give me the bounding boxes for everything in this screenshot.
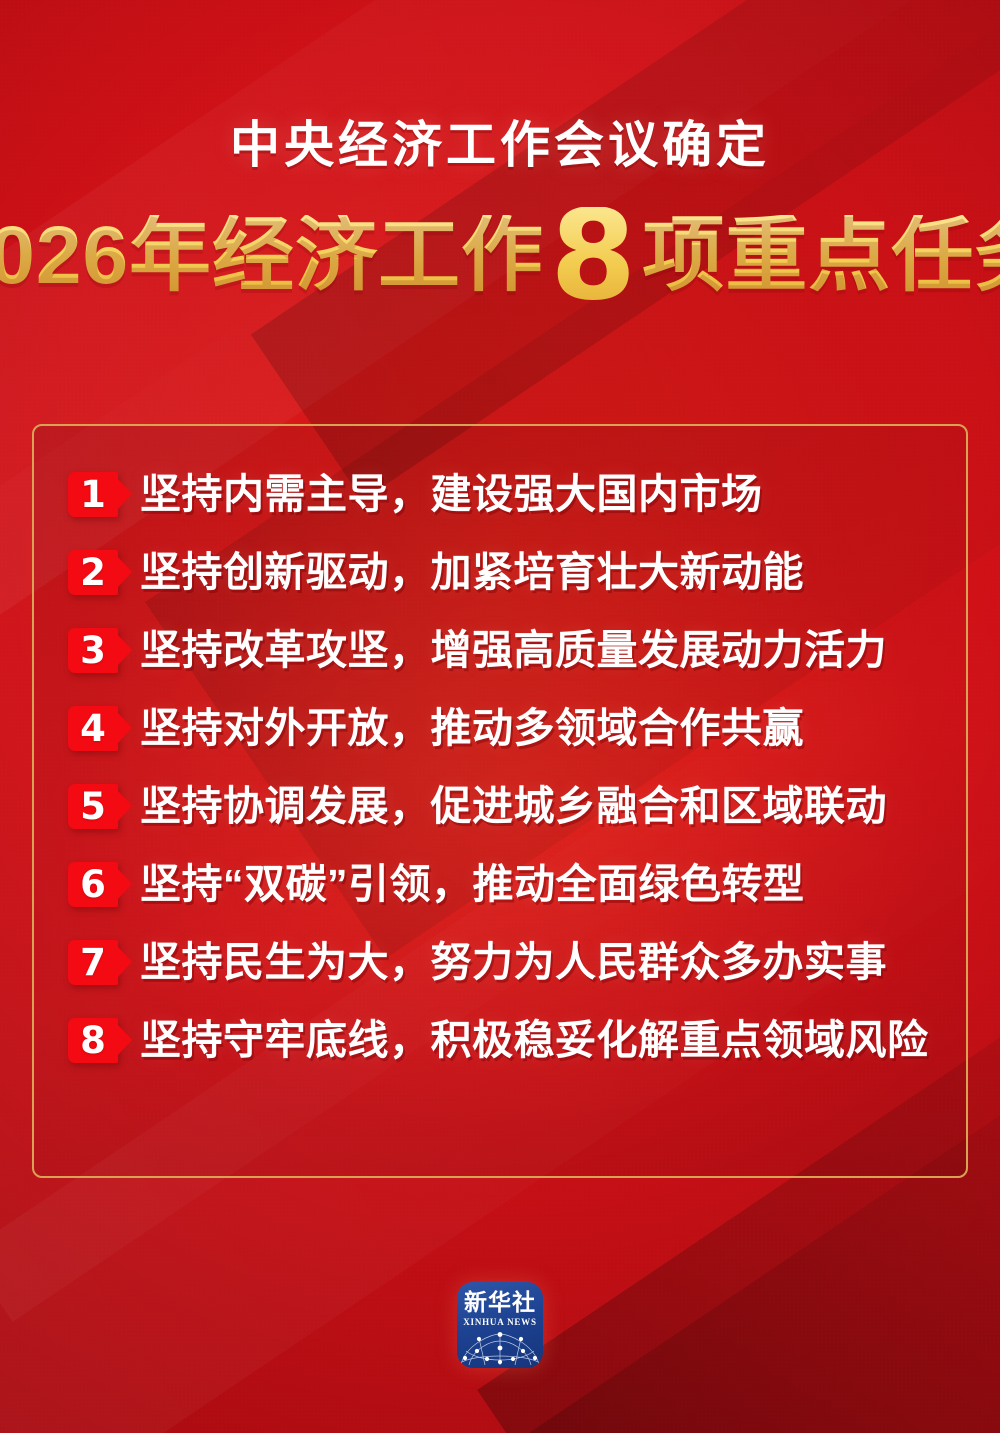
list-item[interactable]: 2 坚持创新驱动，加紧培育壮大新动能 <box>68 550 946 595</box>
network-globe-icon <box>457 1332 543 1368</box>
list-item[interactable]: 4 坚持对外开放，推动多领域合作共赢 <box>68 706 946 751</box>
page-title-number: 8 <box>544 207 642 306</box>
xinhua-news-logo-icon: 新华社 XINHUA NEWS <box>457 1282 543 1368</box>
page-kicker: 中央经济工作会议确定 <box>0 118 1000 172</box>
task-number: 7 <box>80 944 106 981</box>
publisher-logo[interactable]: 新华社 XINHUA NEWS <box>457 1282 543 1368</box>
page-title-prefix: 2026年经济工作 <box>0 215 544 297</box>
task-number-badge: 2 <box>68 550 118 595</box>
task-text: 坚持协调发展，促进城乡融合和区域联动 <box>140 786 887 827</box>
task-list-frame: 1 坚持内需主导，建设强大国内市场 2 坚持创新驱动，加紧培育壮大新动能 3 坚… <box>32 424 968 1178</box>
task-text: 坚持守牢底线，积极稳妥化解重点领域风险 <box>140 1020 929 1061</box>
task-list: 1 坚持内需主导，建设强大国内市场 2 坚持创新驱动，加紧培育壮大新动能 3 坚… <box>34 472 966 1063</box>
task-number: 3 <box>80 632 106 669</box>
poster-header: 中央经济工作会议确定 2026年经济工作 8 项重点任务 <box>0 118 1000 297</box>
poster-root: 中央经济工作会议确定 2026年经济工作 8 项重点任务 1 坚持内需主导，建设… <box>0 0 1000 1433</box>
list-item[interactable]: 8 坚持守牢底线，积极稳妥化解重点领域风险 <box>68 1018 946 1063</box>
task-text: 坚持对外开放，推动多领域合作共赢 <box>140 708 804 749</box>
list-item[interactable]: 6 坚持“双碳”引领，推动全面绿色转型 <box>68 862 946 907</box>
task-number: 2 <box>80 554 106 591</box>
page-title: 2026年经济工作 8 项重点任务 <box>0 198 1000 297</box>
task-number: 4 <box>80 710 106 747</box>
page-title-suffix: 项重点任务 <box>642 215 1000 297</box>
task-text: 坚持“双碳”引领，推动全面绿色转型 <box>140 864 805 905</box>
task-number-badge: 1 <box>68 472 118 517</box>
task-number-badge: 4 <box>68 706 118 751</box>
task-number: 6 <box>80 866 106 903</box>
logo-name-en: XINHUA NEWS <box>463 1318 537 1327</box>
task-text: 坚持内需主导，建设强大国内市场 <box>140 474 763 515</box>
task-number: 8 <box>80 1022 106 1059</box>
task-text: 坚持改革攻坚，增强高质量发展动力活力 <box>140 630 887 671</box>
task-text: 坚持创新驱动，加紧培育壮大新动能 <box>140 552 804 593</box>
task-number-badge: 8 <box>68 1018 118 1063</box>
task-number-badge: 7 <box>68 940 118 985</box>
task-number-badge: 3 <box>68 628 118 673</box>
task-number: 5 <box>80 788 106 825</box>
list-item[interactable]: 1 坚持内需主导，建设强大国内市场 <box>68 472 946 517</box>
task-number-badge: 5 <box>68 784 118 829</box>
task-text: 坚持民生为大，努力为人民群众多办实事 <box>140 942 887 983</box>
list-item[interactable]: 7 坚持民生为大，努力为人民群众多办实事 <box>68 940 946 985</box>
task-number: 1 <box>80 476 106 513</box>
logo-name-cn: 新华社 <box>464 1291 536 1314</box>
list-item[interactable]: 5 坚持协调发展，促进城乡融合和区域联动 <box>68 784 946 829</box>
list-item[interactable]: 3 坚持改革攻坚，增强高质量发展动力活力 <box>68 628 946 673</box>
task-number-badge: 6 <box>68 862 118 907</box>
